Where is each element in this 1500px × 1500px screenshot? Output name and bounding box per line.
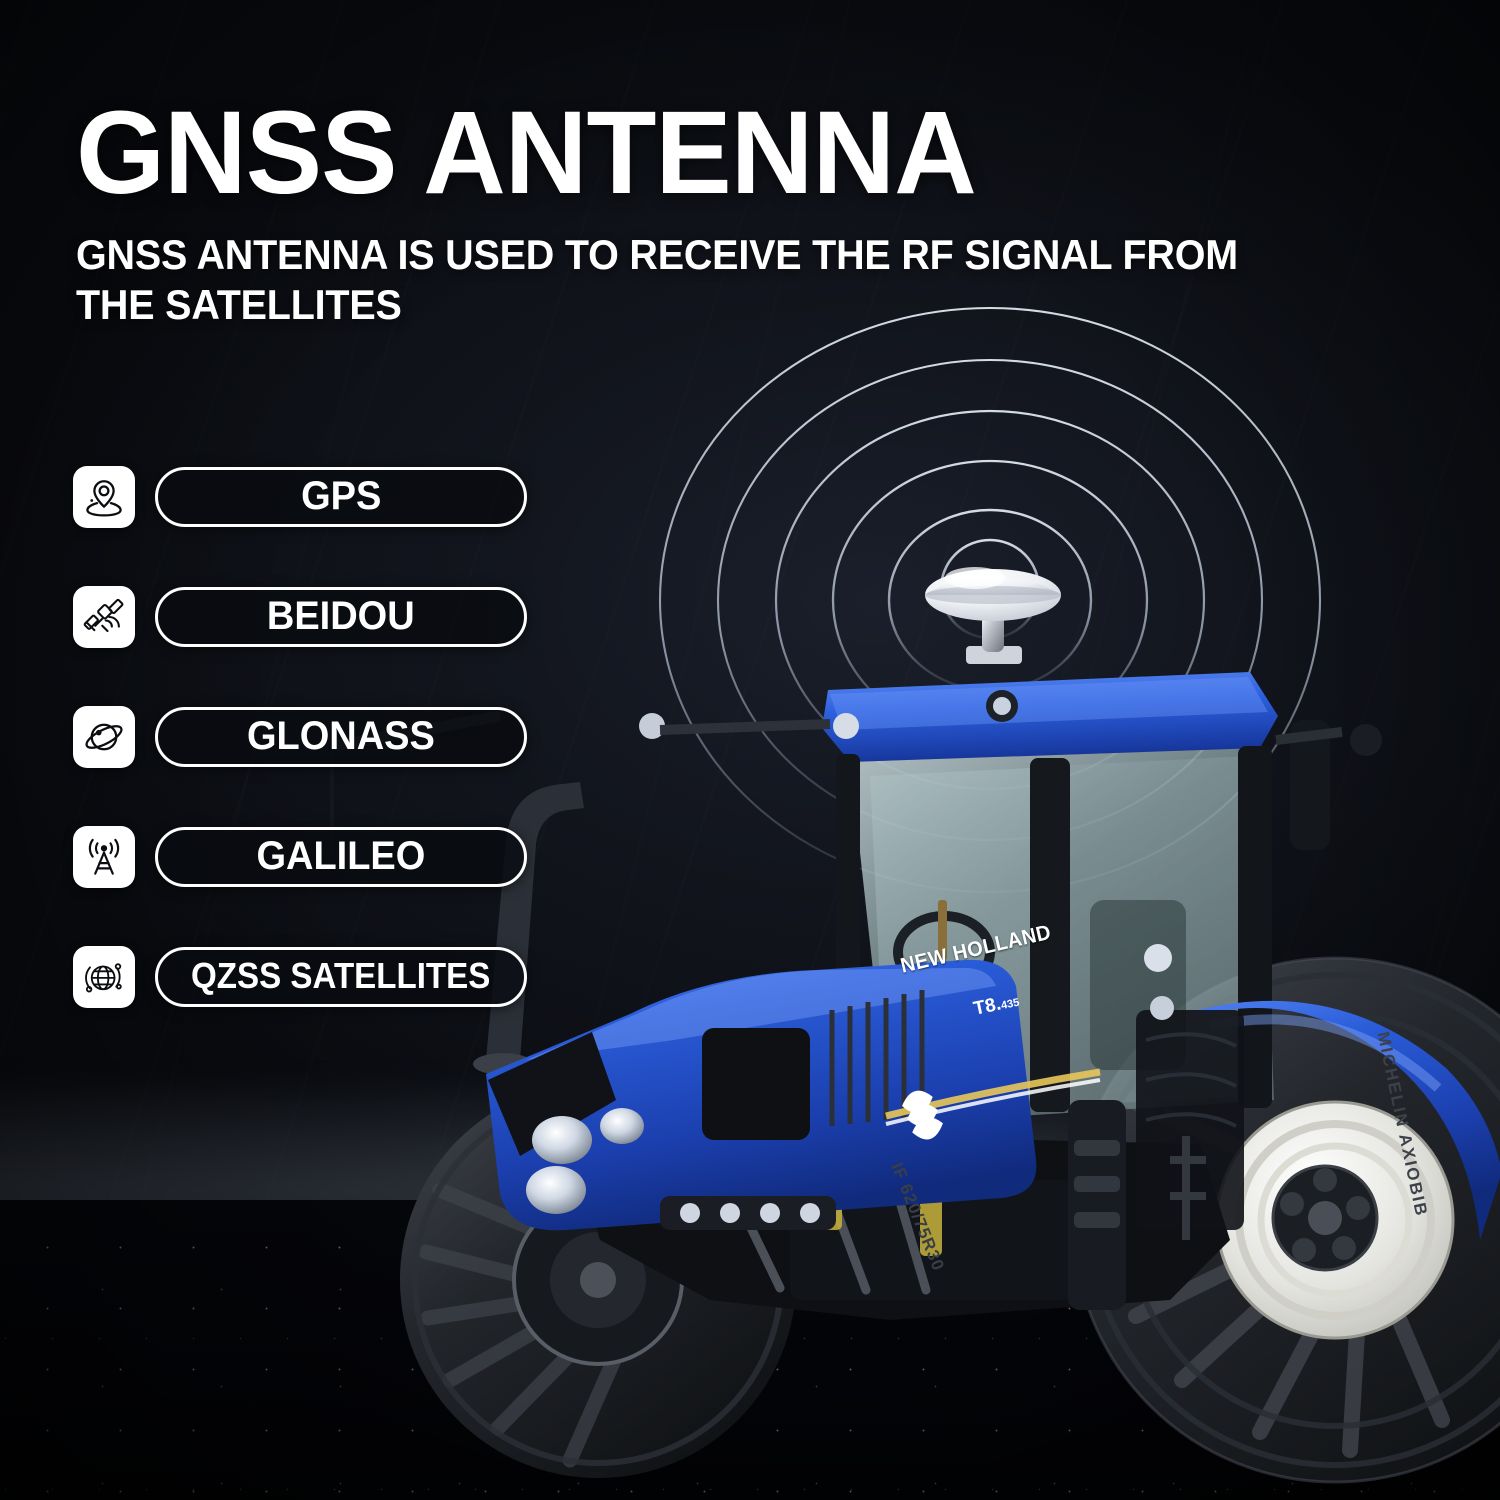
pill-label-gps: GPS <box>301 476 381 518</box>
right-mirror <box>1276 720 1382 850</box>
pill-beidou[interactable]: BEIDOU <box>155 587 527 647</box>
constellation-feature-list: GPS BEIDOU <box>73 466 527 1008</box>
pill-galileo[interactable]: GALILEO <box>155 827 527 887</box>
pill-label-glonass: GLONASS <box>247 716 435 758</box>
header-block: GNSS ANTENNA GNSS ANTENNA IS USED TO REC… <box>76 96 1386 330</box>
radio-tower-icon <box>73 826 135 888</box>
pill-label-beidou: BEIDOU <box>267 596 415 638</box>
page-title: GNSS ANTENNA <box>76 96 1347 212</box>
location-pin-icon <box>73 466 135 528</box>
page-subtitle: GNSS ANTENNA IS USED TO RECEIVE THE RF S… <box>76 230 1307 331</box>
feature-item-qzss[interactable]: QZSS SATELLITES <box>73 946 527 1008</box>
model-number: T8. <box>972 994 1003 1020</box>
pill-gps[interactable]: GPS <box>155 467 527 527</box>
feature-item-beidou[interactable]: BEIDOU <box>73 586 527 648</box>
feature-item-galileo[interactable]: GALILEO <box>73 826 527 888</box>
pill-qzss[interactable]: QZSS SATELLITES <box>155 947 527 1007</box>
gnss-antenna-banner: NEW HOLLAND T8.435 IF 620/75R30 MICHELIN… <box>0 0 1500 1500</box>
satellite-icon <box>73 586 135 648</box>
pill-label-qzss: QZSS SATELLITES <box>191 958 490 996</box>
pill-glonass[interactable]: GLONASS <box>155 707 527 767</box>
model-suffix: 435 <box>1000 997 1020 1013</box>
gnss-dome-antenna <box>925 567 1061 664</box>
globe-network-icon <box>73 946 135 1008</box>
feature-item-glonass[interactable]: GLONASS <box>73 706 527 768</box>
planet-orbit-icon <box>73 706 135 768</box>
feature-item-gps[interactable]: GPS <box>73 466 527 528</box>
pill-label-galileo: GALILEO <box>257 836 426 878</box>
air-intake <box>1068 1100 1126 1310</box>
